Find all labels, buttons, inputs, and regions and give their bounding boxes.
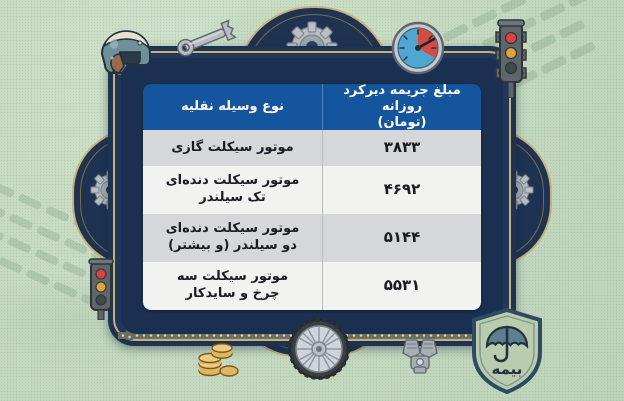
row-type-line2: چرخ و سایدکار [177,286,288,303]
row-type-line1: موتور سیکلت دنده‌ای [166,221,300,238]
row-vehicle-type: موتور سیکلت سه چرخ و سایدکار [143,262,322,310]
row-vehicle-type: موتور سیکلت گازی [143,130,322,166]
motorcycle-wheel-icon [288,318,350,380]
row-vehicle-type: موتور سیکلت دنده‌ای تک سیلندر [143,166,322,214]
amount-header-line1: مبلغ جریمه دیرکرد روزانه [329,84,475,115]
logo-text: بیمه [492,360,523,378]
table-row: ۳۸۳۳ موتور سیکلت گازی [143,130,481,166]
row-amount: ۵۵۳۱ [322,262,481,310]
row-amount: ۴۶۹۲ [322,166,481,214]
insurance-logo: بیمه [470,308,544,394]
row-amount: ۳۸۳۳ [322,130,481,166]
row-type-line2: دو سیلندر (و بیشتر) [166,238,300,255]
row-type-line2: تک سیلندر [166,190,300,207]
table-row: ۴۶۹۲ موتور سیکلت دنده‌ای تک سیلندر [143,166,481,214]
traffic-light-icon-left [88,258,114,320]
row-type-line1: موتور سیکلت سه [177,269,288,286]
traffic-light-icon-right [494,18,528,98]
table-header-vehicle-type: نوع وسیله نقلیه [143,84,322,130]
amount-header-line2: (تومان) [329,115,475,131]
table-header-amount: مبلغ جریمه دیرکرد روزانه (تومان) [322,84,481,130]
fines-table: مبلغ جریمه دیرکرد روزانه (تومان) نوع وسی… [143,84,481,310]
table-row: ۵۵۳۱ موتور سیکلت سه چرخ و سایدکار [143,262,481,310]
row-type-line1: موتور سیکلت دنده‌ای [166,173,300,190]
row-type-line1: موتور سیکلت گازی [171,140,293,157]
v-twin-engine-icon [398,336,442,376]
coins-icon [196,340,242,378]
table-row: ۵۱۴۴ موتور سیکلت دنده‌ای دو سیلندر (و بی… [143,214,481,262]
row-amount: ۵۱۴۴ [322,214,481,262]
row-vehicle-type: موتور سیکلت دنده‌ای دو سیلندر (و بیشتر) [143,214,322,262]
infographic-canvas: مبلغ جریمه دیرکرد روزانه (تومان) نوع وسی… [0,0,624,401]
speedometer-icon [390,20,446,76]
wrench-icon [168,14,246,64]
motorcycle-helmet-icon [98,22,154,78]
table-header-row: مبلغ جریمه دیرکرد روزانه (تومان) نوع وسی… [143,84,481,130]
